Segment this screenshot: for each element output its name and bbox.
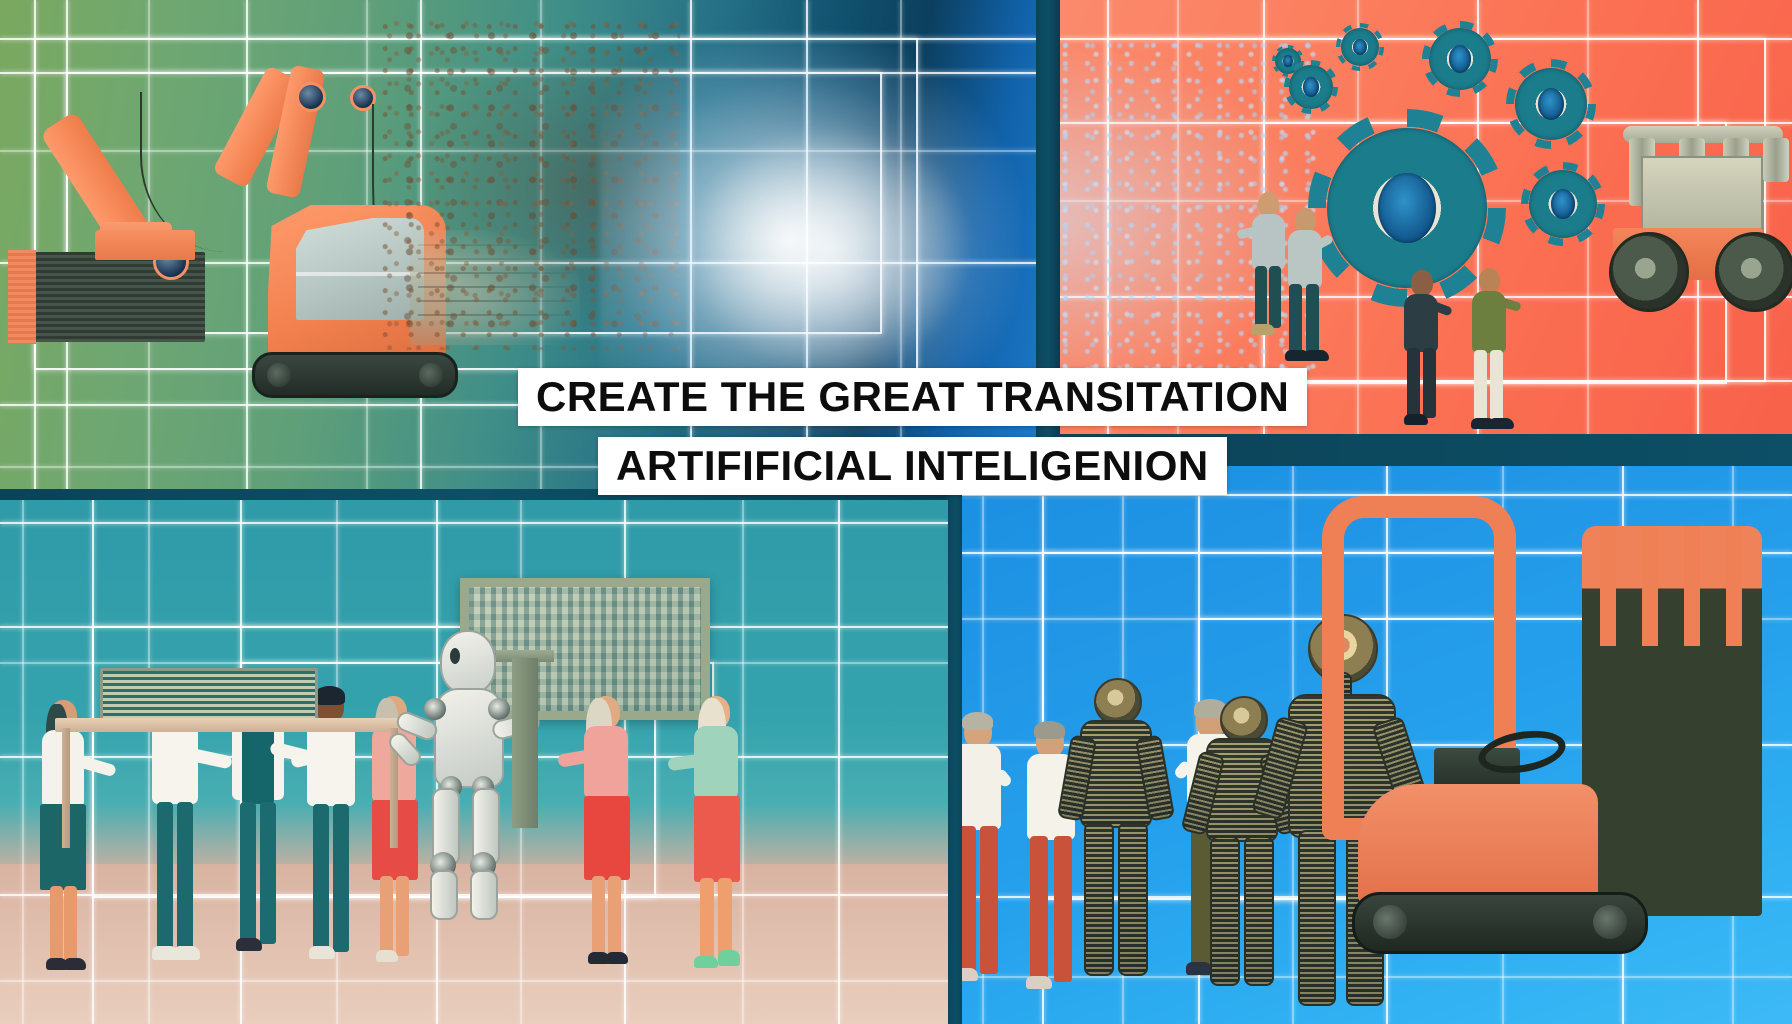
forklift-cage-post-3 [1684,526,1700,646]
person-dark-suit [1402,270,1442,435]
person-red-trousers-1 [962,716,1006,1006]
gear-xsmall-icon [1289,65,1333,109]
smoke-plume-core [680,120,980,380]
support-pillar [512,658,538,828]
gear-small-upper-icon [1341,28,1379,66]
excavator-track [252,352,458,398]
panel-robots [962,466,1792,1024]
forklift-track [1352,892,1648,954]
bronze-robot-1 [1072,678,1156,1008]
industrial-rover-machine [1607,82,1792,312]
pallet-stack-cap [8,250,36,344]
title-banner-line-1: CREATE THE GREAT TRANSITATION [518,368,1307,426]
forklift-body [1358,784,1598,904]
image-canvas: CREATE THE GREAT TRANSITATION ARTIFIFICI… [0,0,1792,1024]
gear-lower-right-icon [1529,170,1597,238]
excavator-elbow-joint [296,82,326,112]
forklift-cage-post-2 [1642,526,1658,646]
person-gesturing [1249,192,1289,342]
person-green-jacket [1469,268,1509,435]
humanoid-service-robot [410,630,526,920]
worker-man-2 [305,690,359,990]
woman-green-top [690,696,744,996]
excavator-turret [95,230,195,260]
gear-large-icon [1327,128,1487,288]
workbench-leg-left [62,728,70,848]
worker-man-1 [150,690,202,990]
panel-workshop [0,500,948,1024]
gear-medium-upper-icon [1429,28,1491,90]
gear-medium-right-icon [1515,68,1587,140]
forklift-cage-post-1 [1600,526,1616,646]
woman-pink-blouse [580,696,634,996]
forklift-cage-post-4 [1726,526,1742,646]
person-walking-left [1285,208,1325,368]
title-banner-line-2: ARTIFIFICIAL INTELIGENION [598,437,1227,495]
orange-forklift [1282,496,1782,1016]
workbench-top [55,718,400,732]
